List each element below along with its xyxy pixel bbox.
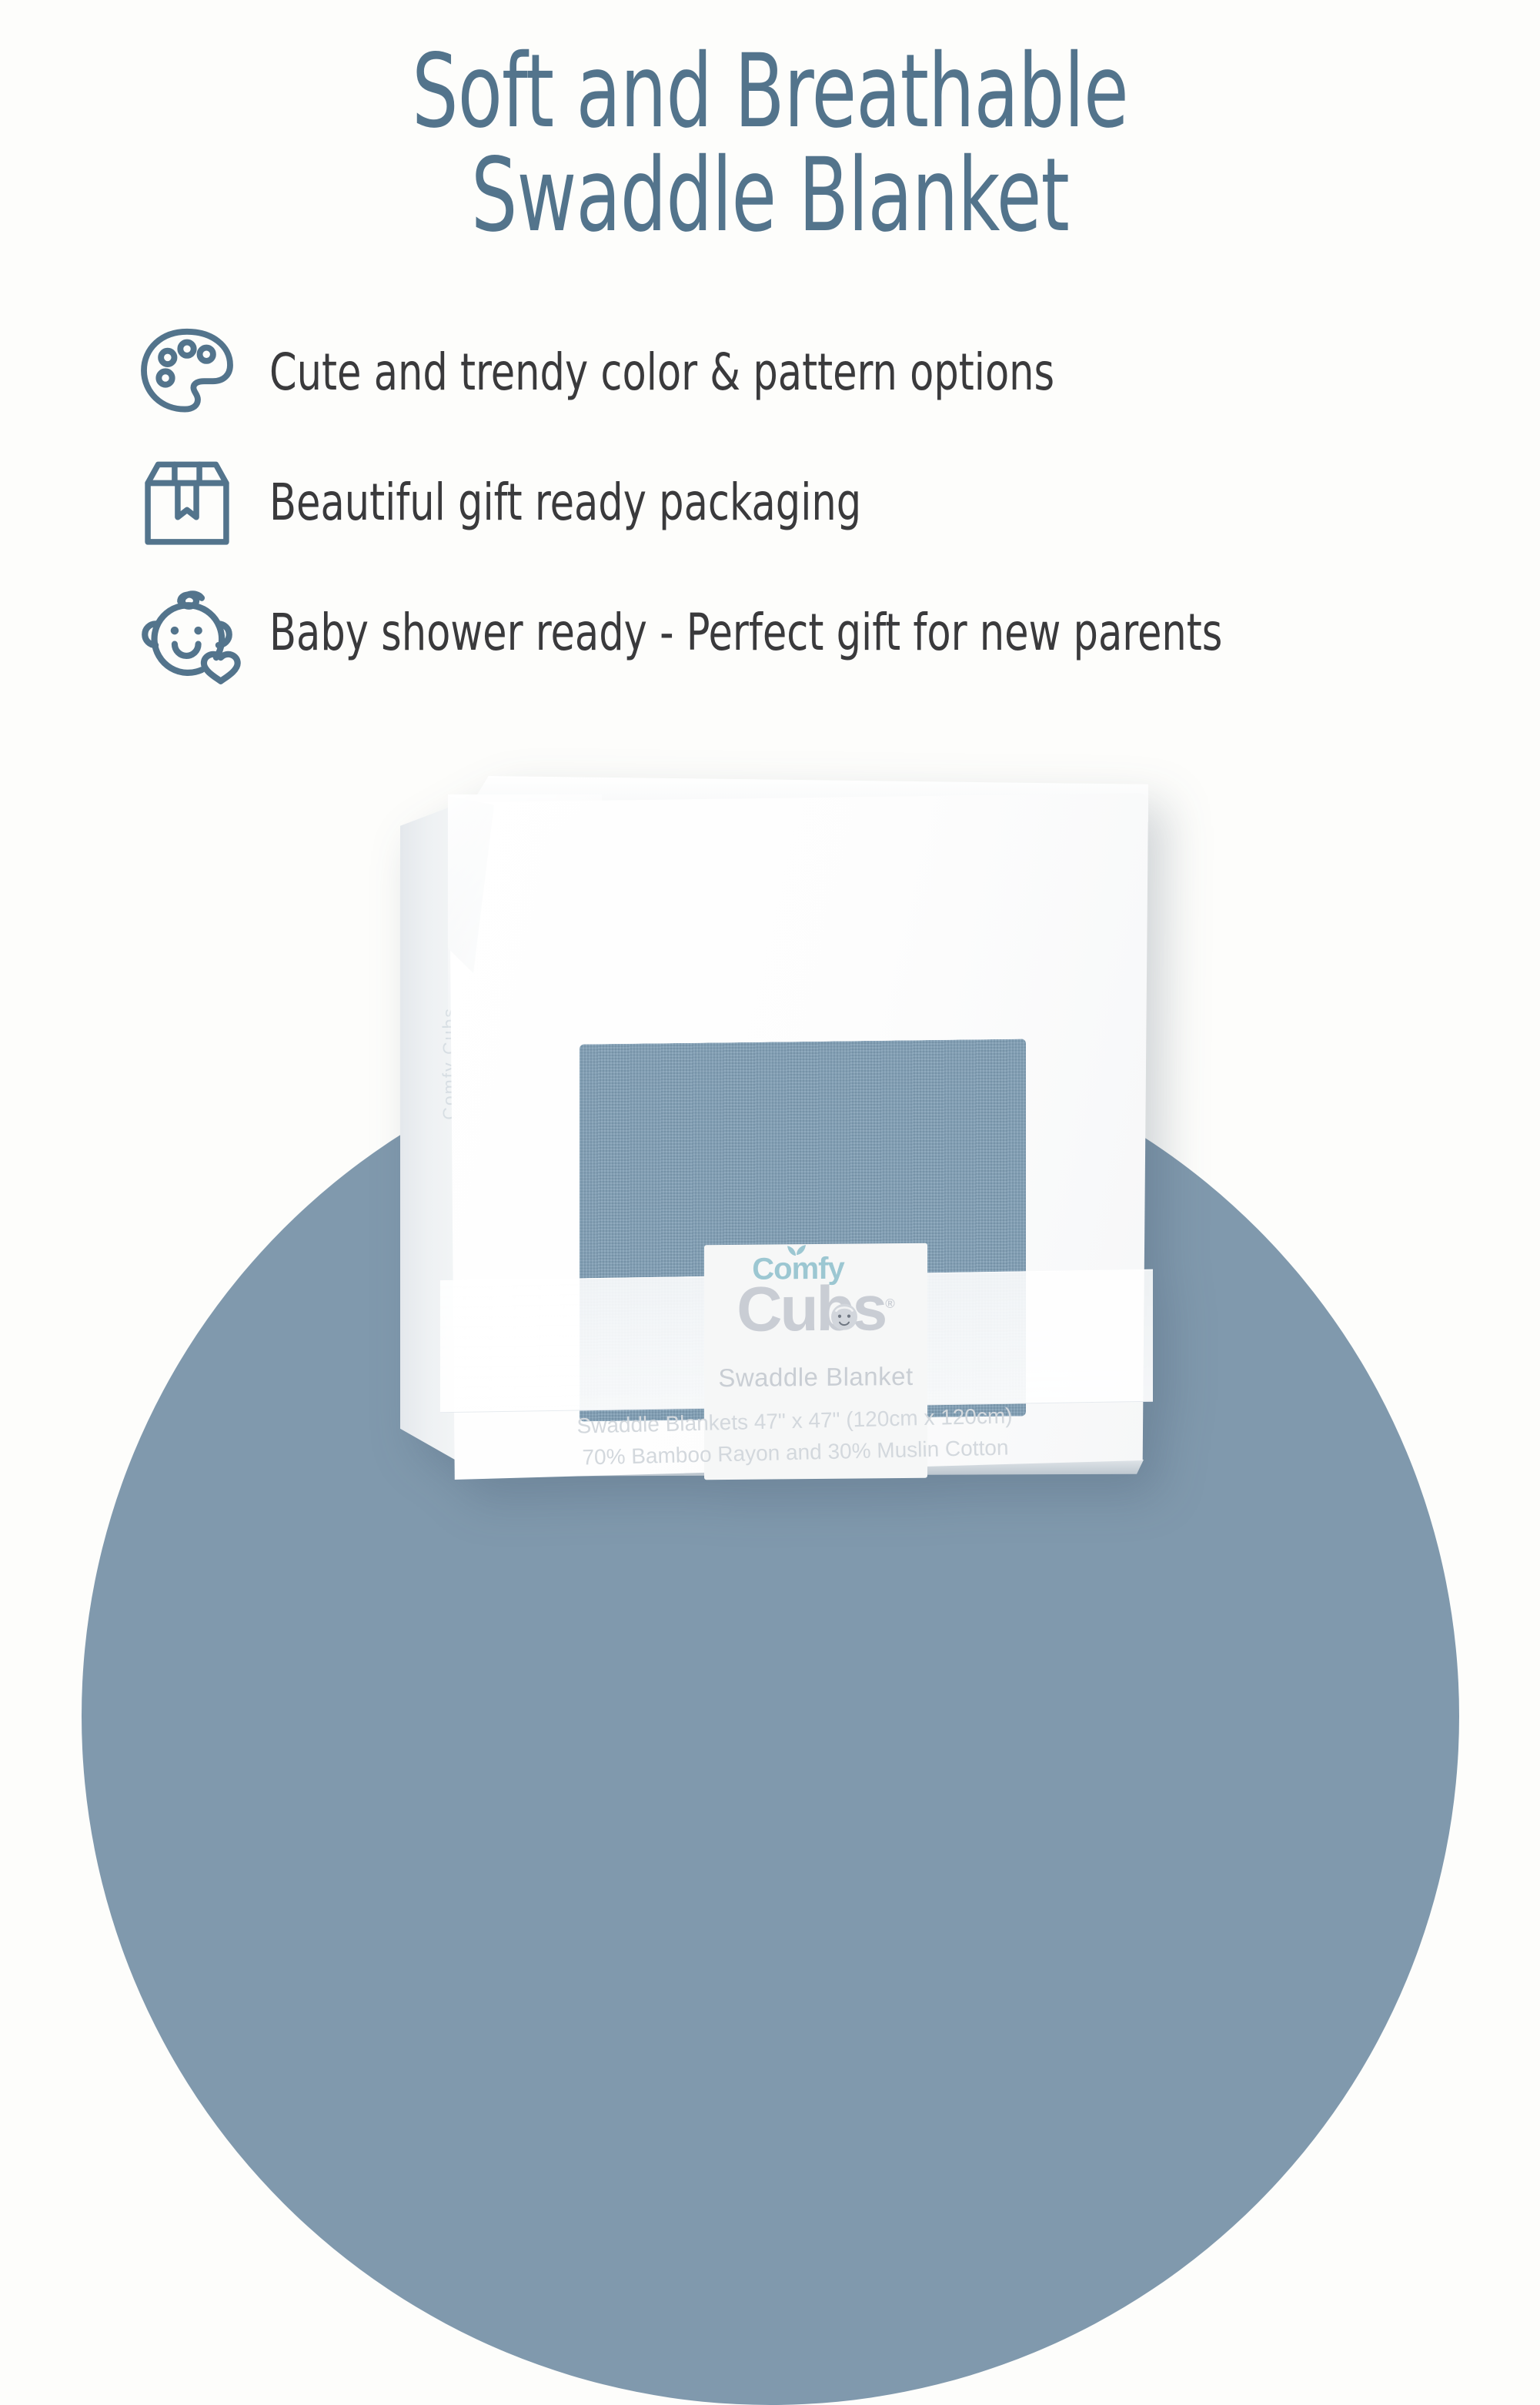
page-title: Soft and Breathable Swaddle Blanket	[154, 40, 1386, 247]
headline-line-1: Soft and Breathable	[154, 40, 1386, 144]
brand-logo-cubs: Cubs®	[707, 1279, 925, 1340]
feature-item-colors: Cute and trendy color & pattern options	[129, 311, 1484, 434]
logo-baby-face-icon	[827, 1299, 862, 1334]
feature-item-baby-shower: Baby shower ready - Perfect gift for new…	[129, 571, 1484, 694]
product-package-image: Comfy Cubs Comfy Cubs® Swaddle Blanket	[400, 776, 1147, 1507]
feature-label-colors: Cute and trendy color & pattern options	[269, 347, 1054, 398]
palette-icon	[129, 315, 245, 430]
label-subtitle: Swaddle Blanket	[707, 1362, 925, 1393]
feature-label-packaging: Beautiful gift ready packaging	[269, 477, 861, 528]
brand-logo-cubs-text: Cubs	[737, 1273, 885, 1345]
leaf-icon	[786, 1242, 807, 1256]
gift-box-icon	[129, 445, 245, 560]
feature-list: Cute and trendy color & pattern options …	[129, 311, 1484, 701]
feature-item-packaging: Beautiful gift ready packaging	[129, 441, 1484, 564]
headline-line-2: Swaddle Blanket	[154, 144, 1386, 248]
brand-logo: Comfy Cubs® Swaddle Blanket	[707, 1253, 925, 1393]
registered-mark: ®	[885, 1296, 895, 1311]
feature-label-baby-shower: Baby shower ready - Perfect gift for new…	[269, 607, 1222, 658]
baby-face-icon	[129, 575, 245, 691]
